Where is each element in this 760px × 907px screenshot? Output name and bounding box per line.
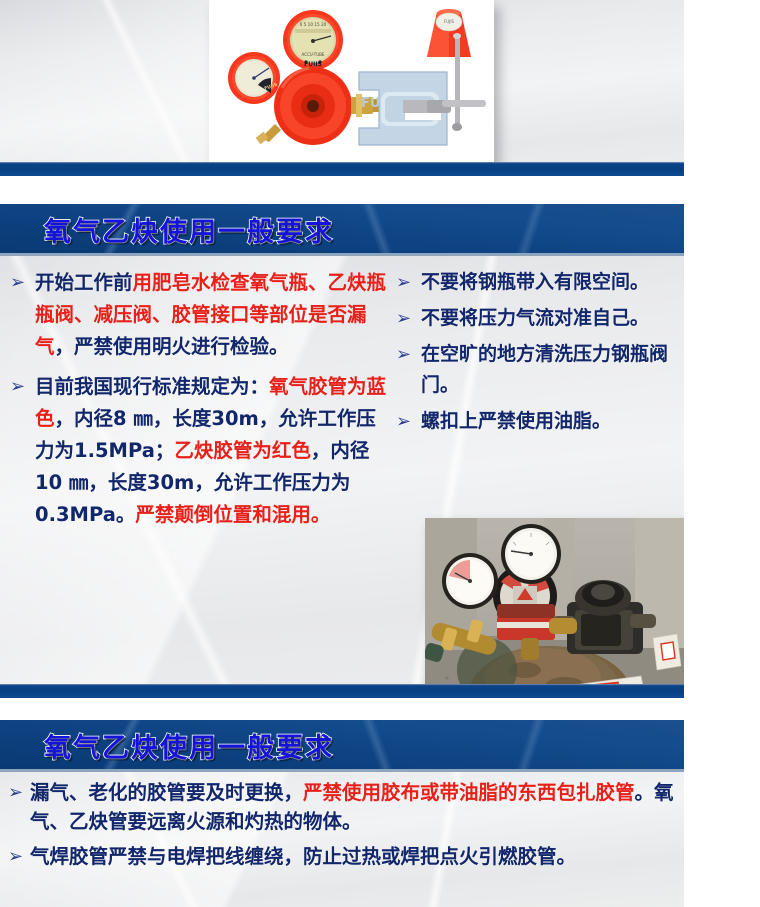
bullet-arrow-icon: ➢	[396, 303, 411, 334]
list-item: ➢ 在空旷的地方清洗压力钢瓶阀门。	[396, 339, 680, 401]
left-bullet-column: ➢ 开始工作前用肥皂水检查氧气瓶、乙炔瓶瓶阀、减压阀、胶管接口等部位是否漏气，严…	[10, 267, 392, 531]
list-item: ➢ 气焊胶管严禁与电焊把线缠绕，防止过热或焊把点火引燃胶管。	[8, 842, 684, 871]
bullet-arrow-icon: ➢	[396, 406, 411, 437]
list-item: ➢ 不要将钢瓶带入有限空间。	[396, 267, 680, 298]
page-title: 氧气乙炔使用一般要求	[44, 726, 334, 765]
list-item: ➢ 目前我国现行标准规定为：氧气胶管为蓝色，内径8 ㎜，长度30m，允许工作压力…	[10, 371, 392, 531]
slide-2: 氧气乙炔使用一般要求 ➢ 开始工作前用肥皂水检查氧气瓶、乙炔瓶瓶阀、减压阀、胶管…	[0, 204, 684, 698]
bullet-arrow-icon: ➢	[10, 267, 25, 299]
run-text: 漏气、老化的胶管要及时更换，	[30, 781, 303, 804]
bullet-arrow-icon: ➢	[10, 371, 25, 403]
list-item: ➢ 开始工作前用肥皂水检查氧气瓶、乙炔瓶瓶阀、减压阀、胶管接口等部位是否漏气，严…	[10, 267, 392, 363]
slide-3-content: ➢ 漏气、老化的胶管要及时更换，严禁使用胶布或带油脂的东西包扎胶管。氧气、乙炔管…	[0, 778, 684, 871]
gas-cylinder-illustration: 危险品 注意安全 严禁烟火 远离热源 压缩气体 不可倒置	[425, 518, 684, 698]
list-item: ➢ 不要将压力气流对准自己。	[396, 303, 680, 334]
list-item: ➢ 螺扣上严禁使用油脂。	[396, 406, 680, 437]
slide-3: 氧气乙炔使用一般要求 ➢ 漏气、老化的胶管要及时更换，严禁使用胶布或带油脂的东西…	[0, 720, 684, 907]
run-text: 严禁颠倒位置和混用。	[135, 503, 330, 526]
slide-3-title-bar: 氧气乙炔使用一般要求	[0, 720, 684, 772]
run-text: 螺扣上严禁使用油脂。	[421, 410, 611, 432]
slide-deck: FUJIS 0 5 10 15 20 ACCU-TUBE FUJIS	[0, 0, 760, 907]
run-text: 不要将压力气流对准自己。	[421, 307, 649, 329]
run-text: 目前我国现行标准规定为：	[35, 375, 269, 398]
page-title: 氧气乙炔使用一般要求	[44, 210, 334, 249]
regulator-illustration: FUJIS 0 5 10 15 20 ACCU-TUBE FUJIS	[209, 0, 494, 166]
run-text: 不要将钢瓶带入有限空间。	[421, 271, 649, 293]
slide-2-bottom-band	[0, 684, 684, 698]
bullet-arrow-icon: ➢	[8, 842, 23, 871]
regulator-product-image: FUJIS 0 5 10 15 20 ACCU-TUBE FUJIS	[209, 0, 494, 166]
bullet-arrow-icon: ➢	[8, 778, 23, 807]
run-text: ，严禁使用明火进行检验。	[55, 335, 289, 358]
bullet-arrow-icon: ➢	[396, 267, 411, 298]
svg-text:FUJIS: FUJIS	[444, 19, 455, 24]
run-text: 严禁使用胶布或带油脂的东西包扎胶管	[303, 781, 635, 804]
svg-text:0 5 10 15 20: 0 5 10 15 20	[300, 22, 327, 27]
slide-2-content: ➢ 开始工作前用肥皂水检查氧气瓶、乙炔瓶瓶阀、减压阀、胶管接口等部位是否漏气，严…	[0, 259, 684, 684]
gas-cylinder-field-image: 危险品 注意安全 严禁烟火 远离热源 压缩气体 不可倒置	[425, 518, 684, 698]
run-text: 气焊胶管严禁与电焊把线缠绕，防止过热或焊把点火引燃胶管。	[30, 845, 576, 868]
bullet-arrow-icon: ➢	[396, 339, 411, 370]
slide-2-title-bar: 氧气乙炔使用一般要求	[0, 204, 684, 256]
slide-1-bottom-band	[0, 162, 684, 176]
svg-text:ACCU-TUBE: ACCU-TUBE	[302, 52, 325, 57]
list-item: ➢ 漏气、老化的胶管要及时更换，严禁使用胶布或带油脂的东西包扎胶管。氧气、乙炔管…	[8, 778, 684, 836]
run-text: 在空旷的地方清洗压力钢瓶阀门。	[421, 343, 668, 396]
slide-1: FUJIS 0 5 10 15 20 ACCU-TUBE FUJIS	[0, 0, 684, 176]
right-bullet-column: ➢ 不要将钢瓶带入有限空间。 ➢ 不要将压力气流对准自己。 ➢ 在空旷的地方清洗…	[396, 267, 680, 437]
svg-text:FU: FU	[361, 96, 380, 111]
run-text: 乙炔胶管为红色	[174, 439, 311, 462]
run-text: 开始工作前	[35, 271, 133, 294]
